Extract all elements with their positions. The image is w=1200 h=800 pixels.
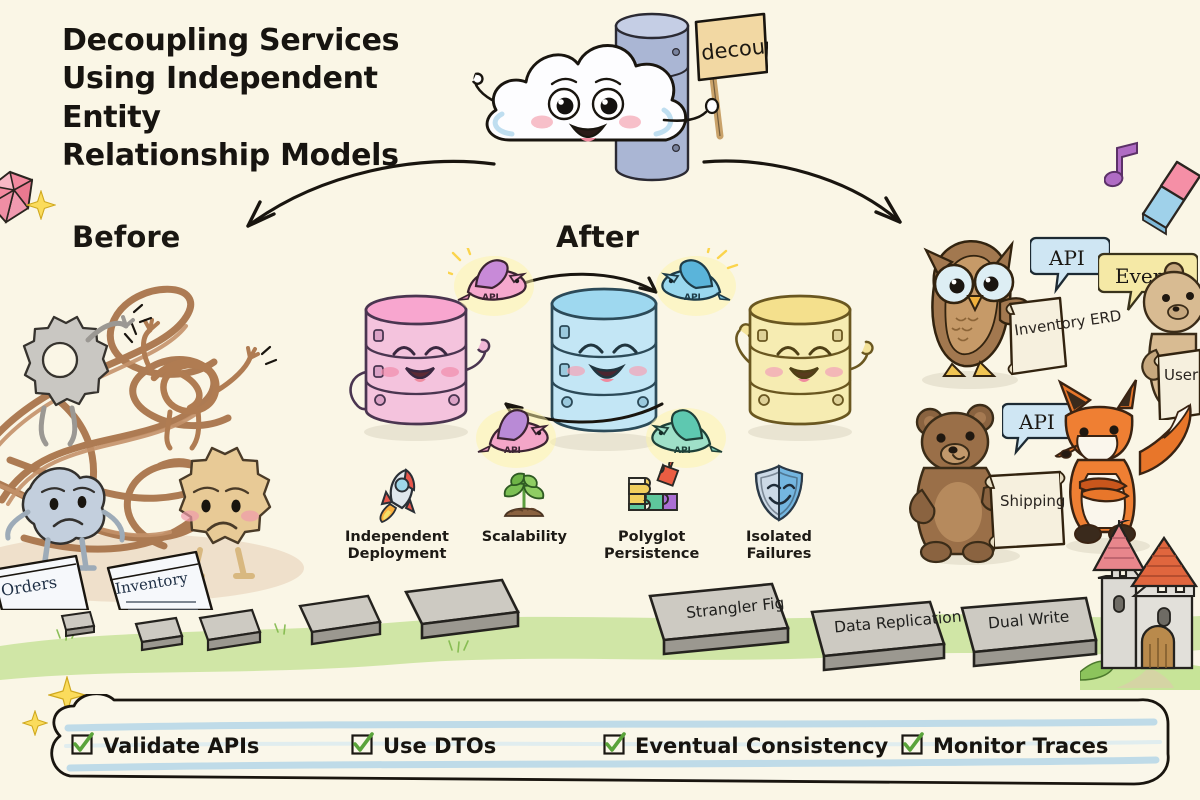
stone-blank-4 — [300, 596, 380, 644]
bird-api-label: API — [674, 446, 691, 456]
after-heading: After — [556, 220, 639, 254]
checklist-items: Validate APIs Use DTOs Eventual Consiste… — [70, 724, 1160, 768]
sprout-icon — [465, 462, 583, 524]
bird-api-label: API — [482, 293, 499, 303]
checkbox-checked-icon[interactable] — [70, 732, 94, 760]
benefit-label: Isolated Failures — [720, 529, 838, 562]
checkbox-checked-icon[interactable] — [900, 732, 924, 760]
bird-api-label: API — [684, 293, 701, 303]
benefit-label: Scalability — [465, 529, 583, 546]
stone-blank-2 — [136, 618, 182, 650]
benefit-label: Polyglot Persistence — [593, 529, 711, 562]
checklist-label: Validate APIs — [103, 734, 259, 758]
pink-blue-eraser-icon — [1140, 158, 1200, 240]
title-line-1: Decoupling Services — [62, 22, 482, 60]
blue-api-bird: API — [650, 248, 742, 324]
checklist-label: Monitor Traces — [933, 734, 1108, 758]
stone-dual-write — [962, 598, 1096, 666]
checkbox-checked-icon[interactable] — [350, 732, 374, 760]
benefit-isolated-failures: Isolated Failures — [720, 462, 838, 562]
yellow-database — [718, 286, 878, 450]
title-line-2: Using Independent Entity — [62, 60, 482, 137]
migration-stepping-stones: Strangler Fig Data Replication Dual Writ… — [0, 560, 1200, 704]
checklist-label: Use DTOs — [383, 734, 496, 758]
pink-api-bird: API — [448, 248, 540, 324]
benefit-polyglot-persistence: Polyglot Persistence — [593, 462, 711, 562]
before-heading: Before — [72, 220, 180, 254]
illustration-canvas: Decoupling Services Using Independent En… — [0, 0, 1200, 800]
benefit-independent-deployment: Independent Deployment — [338, 462, 456, 562]
shield-face-icon — [720, 462, 838, 524]
yellow-sparkle-icon — [26, 190, 56, 224]
checklist-item-validate-apis[interactable]: Validate APIs — [70, 732, 350, 760]
castle-destination — [1080, 520, 1200, 694]
stone-blank-1 — [62, 612, 94, 636]
bird-api-label: API — [504, 446, 521, 456]
checklist-item-use-dtos[interactable]: Use DTOs — [350, 732, 602, 760]
checklist-item-eventual-consistency[interactable]: Eventual Consistency — [602, 732, 900, 760]
owl-character: Inventory ERD — [908, 232, 1068, 396]
arrow-to-before — [200, 150, 500, 264]
stone-blank-5 — [406, 580, 518, 638]
checkbox-checked-icon[interactable] — [602, 732, 626, 760]
decoupled-sign: decoupled — [696, 14, 768, 80]
benefit-label: Independent Deployment — [338, 529, 456, 562]
puzzle-icon — [593, 462, 711, 524]
rocket-icon — [338, 462, 456, 524]
cloud-mascot: decoupled — [468, 8, 768, 202]
benefits-row: Independent Deployment Scalability — [338, 462, 838, 562]
stone-blank-3 — [200, 610, 260, 650]
checklist-label: Eventual Consistency — [635, 734, 888, 758]
benefit-scalability: Scalability — [465, 462, 583, 546]
purple-music-note-icon — [1104, 140, 1144, 194]
checklist-item-monitor-traces[interactable]: Monitor Traces — [900, 732, 1108, 760]
